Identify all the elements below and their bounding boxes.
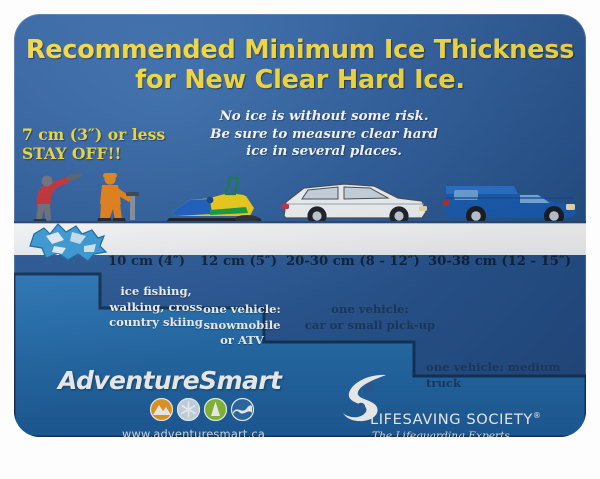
sedan-car-figure — [282, 184, 427, 224]
step-label-2: one vehicle: snowmobile or ATV — [194, 302, 290, 349]
poster-canvas: Recommended Minimum Ice Thickness for Ne… — [0, 0, 600, 479]
subtitle-block: No ice is without some risk. Be sure to … — [199, 108, 449, 161]
step-2-line-1: one vehicle: — [194, 302, 290, 318]
step-3-line-2: car or small pick-up — [302, 318, 438, 334]
warning-line-2: STAY OFF!! — [22, 145, 182, 164]
lifesaving-society-text: LIFESAVING SOCIETY — [370, 411, 533, 428]
subtitle-line-3: ice in several places. — [199, 143, 449, 161]
step-1-line-1: ice fishing, — [106, 284, 206, 300]
step-label-3: one vehicle: car or small pick-up — [302, 302, 438, 333]
subtitle-line-2: Be sure to measure clear hard — [199, 126, 449, 144]
step-2-line-2: snowmobile — [194, 318, 290, 334]
snowflake-icon — [177, 398, 200, 421]
subtitle-line-1: No ice is without some risk. — [199, 108, 449, 126]
tree-icon — [204, 398, 227, 421]
snowmobile-figure — [166, 178, 262, 223]
step-label-1: ice fishing, walking, cross country skii… — [106, 284, 206, 331]
adventuresmart-wordmark: AdventureSmart — [58, 366, 281, 395]
title-line-1: Recommended Minimum Ice Thickness — [26, 35, 574, 65]
step-1-line-3: country skiing — [106, 315, 206, 331]
stay-off-warning: 7 cm (3″) or less STAY OFF!! — [22, 126, 182, 163]
page-title: Recommended Minimum Ice Thickness for Ne… — [14, 36, 586, 95]
step-4-line-1: one vehicle: medium truck — [426, 360, 586, 391]
step-3-line-1: one vehicle: — [302, 302, 438, 318]
adventuresmart-url[interactable]: www.adventuresmart.ca — [122, 427, 265, 437]
mountain-sunset-icon — [150, 398, 173, 421]
step-label-4: one vehicle: medium truck — [426, 360, 586, 391]
ice-safety-card: Recommended Minimum Ice Thickness for Ne… — [14, 14, 586, 437]
water-wave-icon — [231, 398, 254, 421]
step-1-line-2: walking, cross — [106, 300, 206, 316]
title-line-2: for New Clear Hard Ice. — [14, 66, 586, 96]
adventuresmart-icon-row — [150, 398, 254, 421]
pickup-truck-figure — [443, 186, 576, 224]
ice-thickness-staircase — [14, 250, 586, 437]
warning-line-1: 7 cm (3″) or less — [22, 126, 182, 145]
lifesaving-society-name: LIFESAVING SOCIETY® — [370, 411, 542, 428]
lifesaving-society-tagline: The Lifeguarding Experts — [372, 430, 510, 437]
registered-mark: ® — [533, 411, 542, 420]
step-2-line-3: or ATV — [194, 333, 290, 349]
